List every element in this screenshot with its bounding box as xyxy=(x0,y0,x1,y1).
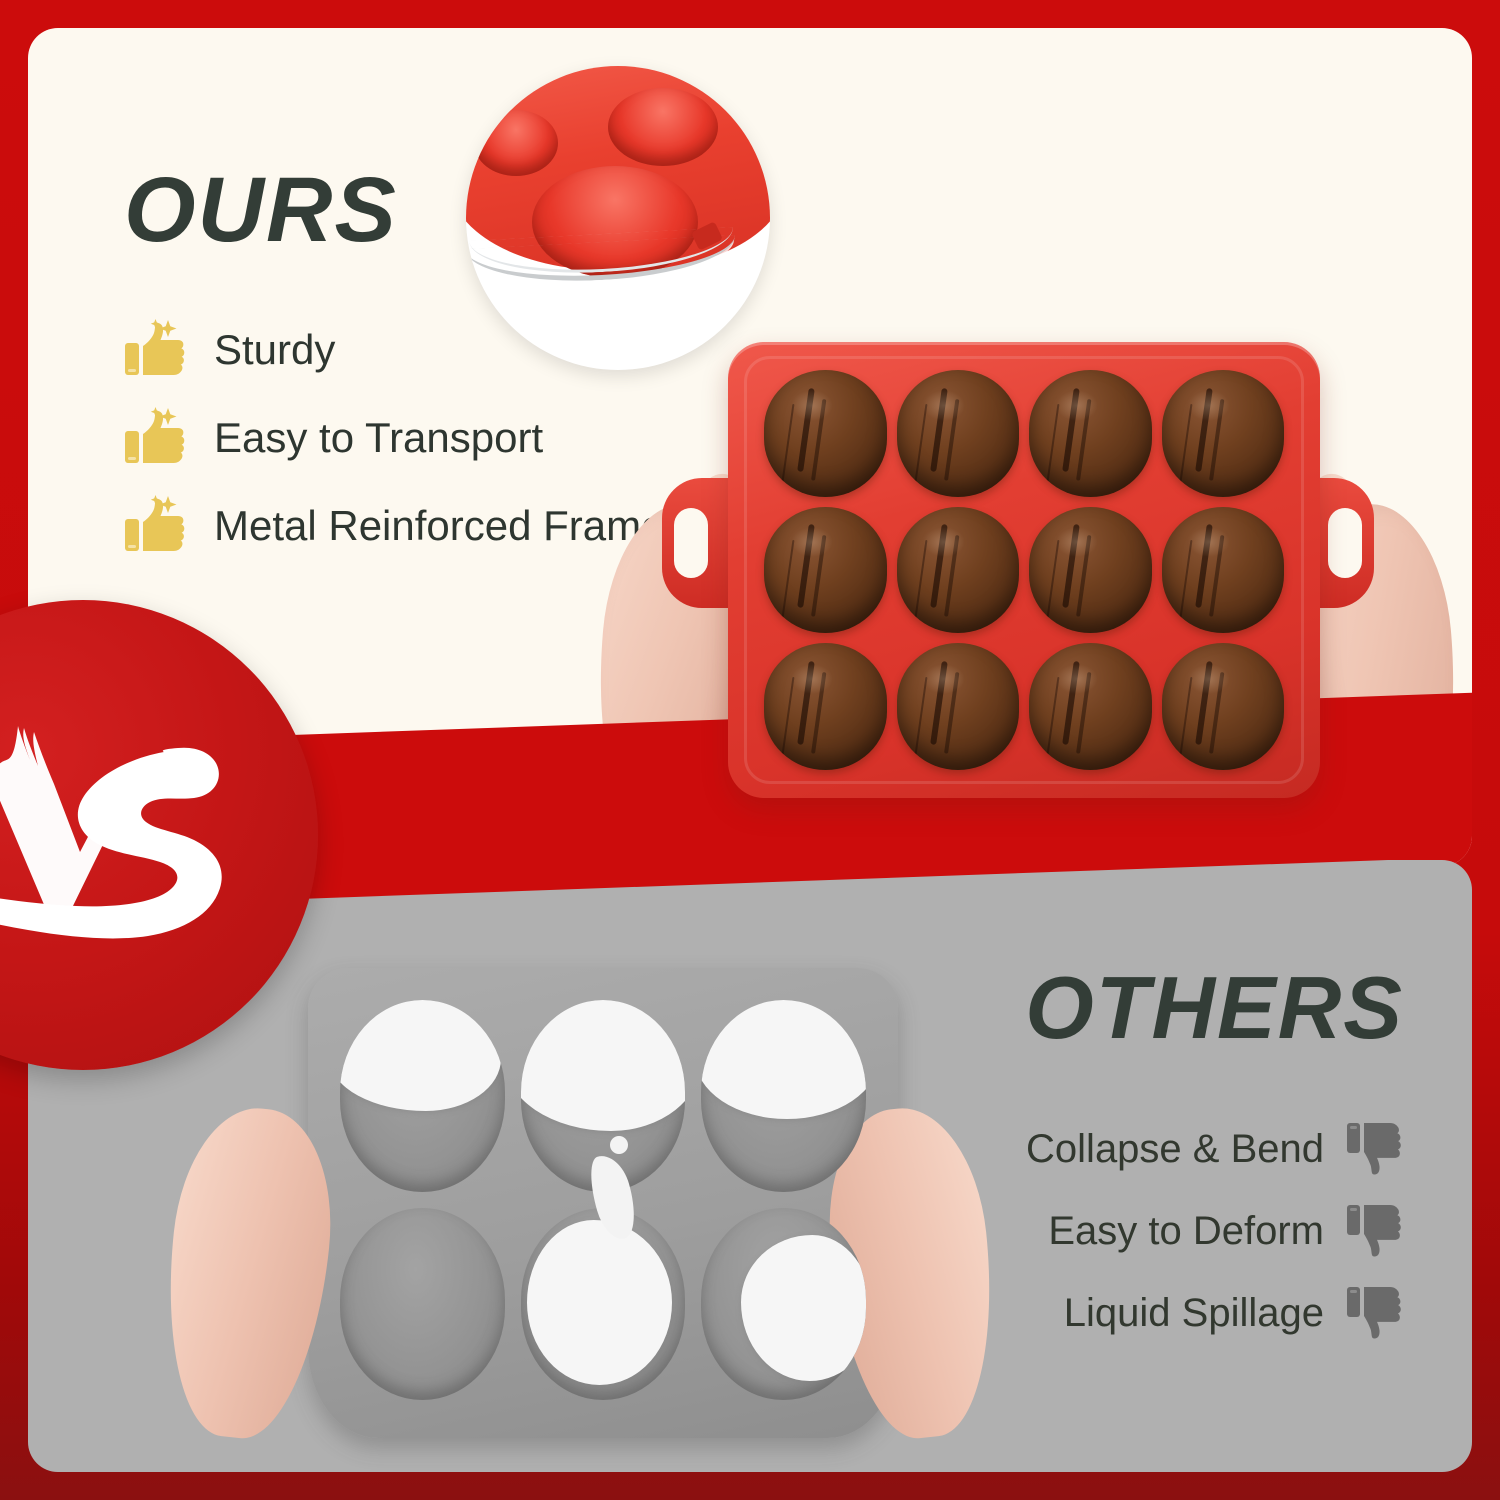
list-item: Liquid Spillage xyxy=(1026,1272,1404,1354)
list-item: Collapse & Bend xyxy=(1026,1108,1404,1190)
muffin xyxy=(1162,507,1285,634)
spilled-batter xyxy=(701,1000,866,1119)
others-drawback-label: Liquid Spillage xyxy=(1064,1291,1324,1336)
muffin xyxy=(1162,643,1285,770)
ours-feature-label: Easy to Transport xyxy=(214,414,543,462)
thumbs-down-icon xyxy=(1346,1285,1404,1341)
others-drawback-list: Collapse & Bend Easy to Deform Liquid xyxy=(1026,1108,1404,1354)
thumbs-down-icon xyxy=(1346,1121,1404,1177)
vs-brush-lettering xyxy=(0,600,318,1070)
muffin xyxy=(1029,507,1152,634)
ours-heading: OURS xyxy=(124,164,398,256)
muffin xyxy=(1029,370,1152,497)
muffin xyxy=(897,643,1020,770)
muffin xyxy=(1029,643,1152,770)
metal-reinforced-frame-closeup xyxy=(466,66,770,370)
muffin-cup xyxy=(521,1208,686,1400)
thumbs-up-icon xyxy=(124,319,188,381)
thumbs-up-icon xyxy=(124,407,188,469)
inset-cup xyxy=(474,110,558,176)
spilled-batter xyxy=(527,1220,672,1385)
muffin xyxy=(1162,370,1285,497)
inset-cup xyxy=(608,88,718,166)
thumbs-up-icon xyxy=(124,495,188,557)
others-heading: OTHERS xyxy=(1025,964,1404,1052)
red-frame: OURS Sturdy xyxy=(0,0,1500,1500)
muffin xyxy=(897,370,1020,497)
spilled-batter xyxy=(340,1000,501,1111)
spilled-batter xyxy=(521,1000,686,1131)
list-item: Easy to Deform xyxy=(1026,1190,1404,1272)
muffin-cup xyxy=(340,1208,505,1400)
others-drawback-label: Easy to Deform xyxy=(1048,1209,1324,1254)
ours-product-photo xyxy=(588,328,1448,866)
ours-feature-label: Sturdy xyxy=(214,326,335,374)
vs-badge xyxy=(0,600,318,1070)
thumbs-down-icon xyxy=(1346,1203,1404,1259)
spilled-batter xyxy=(741,1235,866,1381)
batter-droplet xyxy=(610,1136,628,1154)
hand-left xyxy=(153,1101,343,1445)
muffin xyxy=(764,643,887,770)
others-drawback-label: Collapse & Bend xyxy=(1026,1127,1324,1172)
muffin xyxy=(764,370,887,497)
muffin-cup xyxy=(701,1000,866,1192)
muffin xyxy=(897,507,1020,634)
muffin-cups xyxy=(758,364,1290,776)
muffin xyxy=(764,507,887,634)
muffin-cup xyxy=(340,1000,505,1192)
muffin-cup xyxy=(701,1208,866,1400)
